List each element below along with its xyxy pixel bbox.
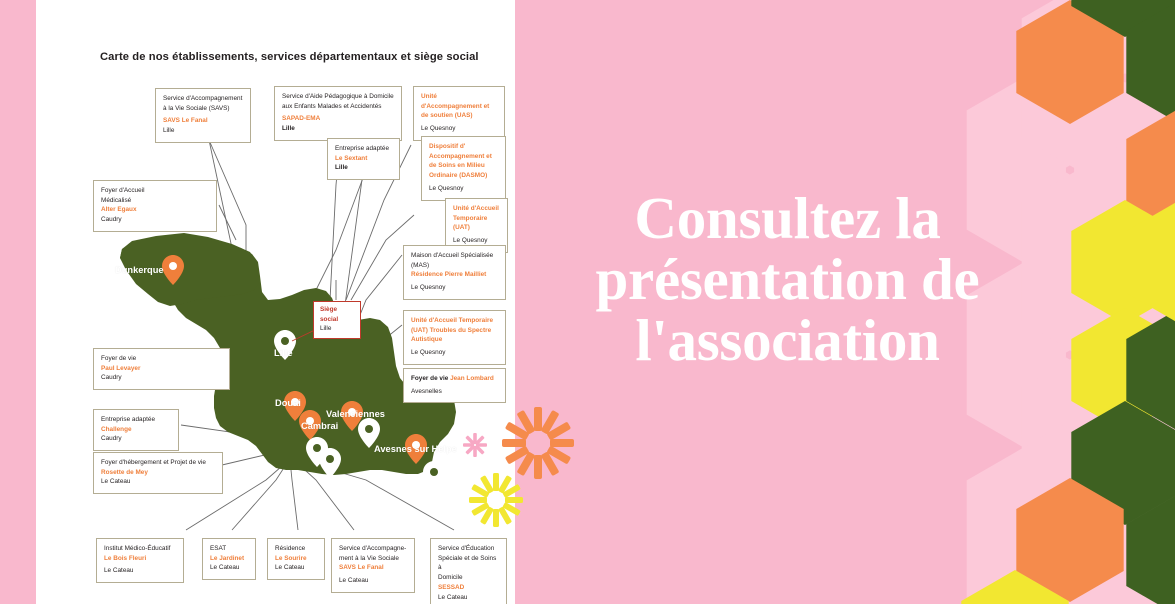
callout-line: Service d'Accompagnement (163, 94, 243, 104)
city-label-cambrai: Cambrai (301, 421, 338, 431)
callout-highlight: Rosette de Mey (101, 468, 215, 478)
callout-highlight: SAVS Le Fanal (339, 563, 407, 573)
callout-city: Lille (163, 126, 243, 136)
callout-highlight: Le Jardinet (210, 554, 248, 564)
callout-city: Le Cateau (101, 477, 215, 487)
callout-rosette-de-mey[interactable]: Foyer d'hébergement et Projet de vie Ros… (93, 452, 223, 494)
callout-line: Entreprise adaptée (335, 144, 392, 154)
callout-city: Le Cateau (438, 593, 499, 603)
callout-highlight: Unité d'Accueil Temporaire (UAT) (453, 204, 500, 233)
starburst-decoration (455, 395, 595, 535)
hero-line-2: présentation de (515, 249, 1060, 310)
callout-line: Spéciale et de Soins à (438, 554, 499, 573)
callout-uas-le-quesnoy[interactable]: Unité d'Accompagnement et de soutien (UA… (413, 86, 505, 141)
callout-city: Lille (282, 124, 394, 134)
callout-line: Service d'Aide Pédagogique à Domicile (282, 92, 394, 102)
callout-dasmo-le-quesnoy[interactable]: Dispositif d' Accompagnement et de Soins… (421, 136, 506, 201)
callout-line: Domicile (438, 573, 499, 583)
city-label-douai: Douai (275, 398, 301, 408)
callout-line: Foyer d'Accueil (101, 186, 209, 196)
page-root: Carte de nos établissements, services dé… (0, 0, 1175, 604)
callout-line: à la Vie Sociale (SAVS) (163, 104, 243, 114)
callout-highlight: Paul Levayer (101, 364, 222, 374)
callout-highlight: Le Sourire (275, 554, 317, 564)
callout-highlight: Alter Egaux (101, 205, 209, 215)
callout-savs-lille[interactable]: Service d'Accompagnement à la Vie Social… (155, 88, 251, 143)
callout-line: Médicalisé (101, 196, 209, 206)
callout-city: Le Cateau (339, 576, 407, 586)
callout-siege-social[interactable]: Siège social Lille (313, 301, 361, 339)
callout-highlight: Dispositif d' Accompagnement et de Soins… (429, 142, 498, 181)
callout-line: Résidence (275, 544, 317, 554)
city-label-lille: Lille (274, 348, 293, 358)
callout-line: Entreprise adaptée (101, 415, 171, 425)
callout-highlight: SAVS Le Fanal (163, 116, 243, 126)
callout-line: Maison d'Accueil Spécialisée (411, 251, 498, 261)
callout-city: Le Quesnoy (429, 184, 498, 194)
callout-line: Service d'Accompagne- (339, 544, 407, 554)
callout-savs-le-fanal-cateau[interactable]: Service d'Accompagne- ment à la Vie Soci… (331, 538, 415, 593)
callout-line: (MAS) (411, 261, 498, 271)
hero-heading: Consultez la présentation de l'associati… (515, 188, 1060, 370)
callout-challenge-caudry[interactable]: Entreprise adaptée Challenge Caudry (93, 409, 179, 451)
callout-line: Foyer de vie (411, 375, 450, 382)
callout-city: Le Quesnoy (411, 348, 498, 358)
hero-panel: Consultez la présentation de l'associati… (515, 0, 1175, 604)
callout-line: Foyer de vie (101, 354, 222, 364)
callout-highlight: Jean Lombard (450, 375, 494, 382)
callout-line: Institut Médico-Éducatif (104, 544, 176, 554)
callout-city: Le Quesnoy (411, 283, 498, 293)
city-label-dunkerque: Dunkerque (115, 265, 164, 275)
callout-highlight: Le Bois Fleuri (104, 554, 176, 564)
callout-city: Le Cateau (210, 563, 248, 573)
map-panel: Carte de nos établissements, services dé… (36, 0, 515, 604)
callout-le-sextant-lille[interactable]: Entreprise adaptée Le Sextant Lille (327, 138, 400, 180)
callout-line: Service d'Éducation (438, 544, 499, 554)
callout-residence-le-sourire[interactable]: Résidence Le Sourire Le Cateau (267, 538, 325, 580)
callout-highlight: Challenge (101, 425, 171, 435)
city-label-valenciennes: Valenciennes (326, 409, 385, 419)
callout-line: ment à la Vie Sociale (339, 554, 407, 564)
callout-line: aux Enfants Malades et Accidentés (282, 102, 394, 112)
callout-city: Le Quesnoy (421, 124, 497, 134)
callout-highlight: Résidence Pierre Mailliet (411, 270, 498, 280)
callout-sessad-le-cateau[interactable]: Service d'Éducation Spéciale et de Soins… (430, 538, 507, 604)
hero-line-3: l'association (515, 310, 1060, 371)
callout-highlight: Siège social (320, 305, 354, 324)
callout-esat-le-jardinet[interactable]: ESAT Le Jardinet Le Cateau (202, 538, 256, 580)
callout-alter-egaux-caudry[interactable]: Foyer d'Accueil Médicalisé Alter Egaux C… (93, 180, 217, 232)
callout-line: Foyer d'hébergement et Projet de vie (101, 458, 215, 468)
callout-highlight: Unité d'Accompagnement et de soutien (UA… (421, 92, 497, 121)
callout-highlight: SAPAD-EMA (282, 114, 394, 124)
hero-line-1: Consultez la (515, 188, 1060, 249)
city-label-avesnes: Avesnes sur Helpe (374, 444, 457, 454)
callout-city: Lille (320, 324, 354, 334)
callout-city: Caudry (101, 215, 209, 225)
callout-highlight: Unité d'Accueil Temporaire (UAT) Trouble… (411, 316, 498, 345)
starburst-orange (489, 395, 587, 492)
callout-city: Caudry (101, 434, 171, 444)
callout-city: Le Cateau (275, 563, 317, 573)
callout-city: Caudry (101, 373, 222, 383)
callout-sapad-ema-lille[interactable]: Service d'Aide Pédagogique à Domicile au… (274, 86, 402, 141)
callout-uat-tsa-le-quesnoy[interactable]: Unité d'Accueil Temporaire (UAT) Trouble… (403, 310, 506, 365)
callout-highlight: Le Sextant (335, 154, 392, 164)
callout-city: Lille (335, 163, 392, 173)
callout-ime-le-bois-fleuri[interactable]: Institut Médico-Éducatif Le Bois Fleuri … (96, 538, 184, 583)
callout-highlight: SESSAD (438, 583, 499, 593)
callout-mas-pierre-mailliet[interactable]: Maison d'Accueil Spécialisée (MAS) Résid… (403, 245, 506, 300)
callout-line: ESAT (210, 544, 248, 554)
callout-paul-levayer-caudry[interactable]: Foyer de vie Paul Levayer Caudry (93, 348, 230, 390)
starburst-pink (458, 428, 492, 462)
callout-city: Le Cateau (104, 566, 176, 576)
